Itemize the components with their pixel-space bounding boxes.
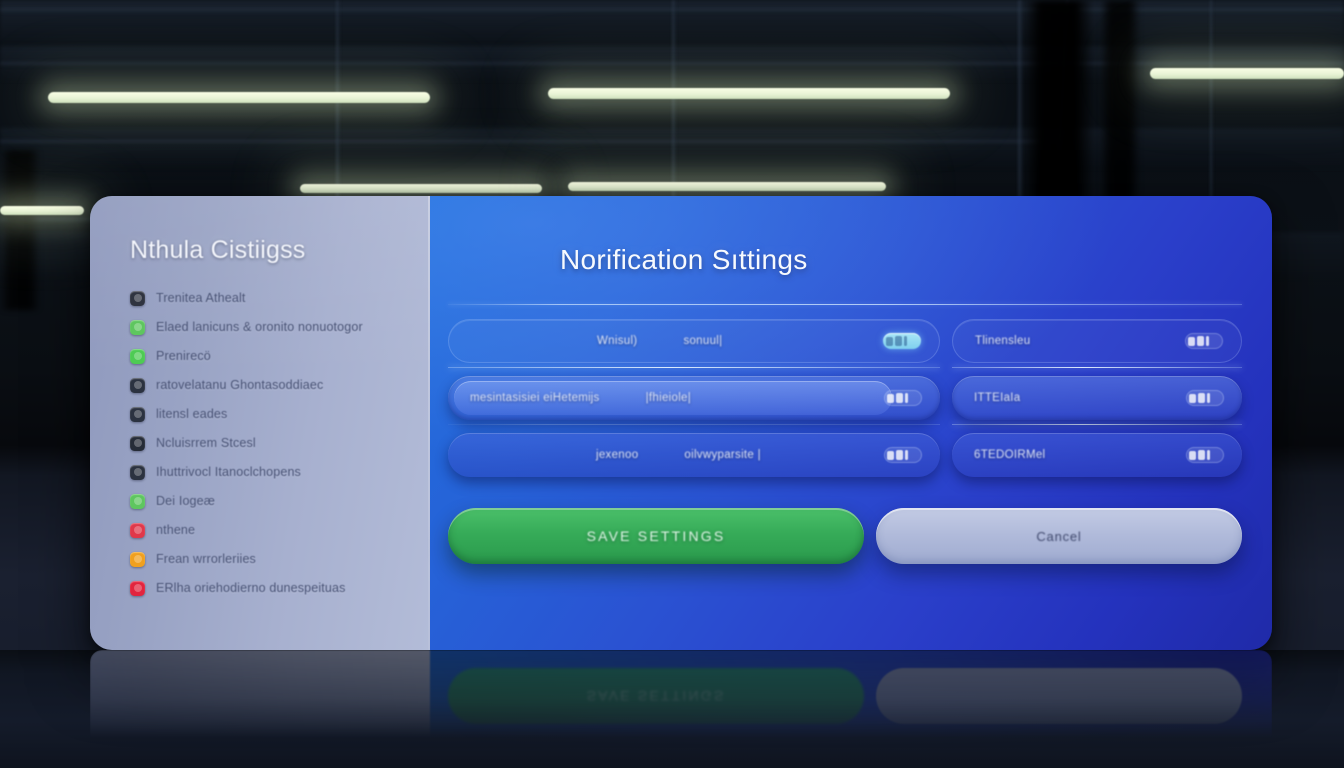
sidebar-item-3[interactable]: ratovelatanu Ghontasoddiaec xyxy=(130,376,430,394)
sidebar-nav: Trenitea AthealtElaed lanicuns & oronito… xyxy=(90,289,430,597)
sidebar-item-icon xyxy=(130,407,145,422)
setting-row-left-1[interactable]: mesintasisiei eiHetemĳs|fhieiole| xyxy=(448,376,940,420)
toggle-segment xyxy=(1207,450,1210,460)
sidebar-item-icon xyxy=(130,320,145,335)
ceiling-light xyxy=(568,182,886,191)
setting-row-value: oilvwyparsite | xyxy=(684,449,761,461)
setting-row-toggle[interactable] xyxy=(1186,447,1224,463)
sidebar-item-icon xyxy=(130,378,145,393)
setting-row-value: |fhieiole| xyxy=(646,392,691,404)
dark-column xyxy=(0,150,40,310)
ceiling-light xyxy=(1150,68,1344,79)
reflection-main: SAVE SETTINGS xyxy=(430,650,1272,738)
sidebar-item-label: Dei Iogeæ xyxy=(156,494,215,508)
sidebar-item-6[interactable]: Ihuttrivocl Itanoclchopens xyxy=(130,463,430,481)
setting-row-label: ITTEIaIa xyxy=(974,392,1021,404)
sidebar-item-label: Trenitea Athealt xyxy=(156,291,246,305)
sidebar-item-icon xyxy=(130,349,145,364)
setting-row-left-2[interactable]: jexenoooilvwyparsite | xyxy=(448,433,940,477)
toggle-segment xyxy=(895,336,902,346)
reflection-cancel-button xyxy=(876,668,1242,724)
sidebar-item-2[interactable]: Prenirecö xyxy=(130,347,430,365)
setting-row-label: 6TEDOIRMel xyxy=(974,449,1045,461)
toggle-segment xyxy=(896,450,903,460)
sidebar-item-icon xyxy=(130,291,145,306)
sidebar-item-icon xyxy=(130,465,145,480)
card-reflection: SAVE SETTINGS xyxy=(90,650,1272,738)
setting-row-label: mesintasisiei eiHetemĳs xyxy=(470,392,600,404)
sidebar-item-label: Frean wrrorleriies xyxy=(156,552,256,566)
toggle-segment xyxy=(905,393,908,403)
setting-row-label: jexenoo xyxy=(596,449,638,461)
sidebar-item-label: ratovelatanu Ghontasoddiaec xyxy=(156,378,323,392)
setting-row-toggle[interactable] xyxy=(1186,390,1224,406)
toggle-segment xyxy=(1197,336,1204,346)
reflection-save-button: SAVE SETTINGS xyxy=(448,668,864,724)
setting-row-right-2[interactable]: 6TEDOIRMel xyxy=(952,433,1242,477)
sidebar-item-4[interactable]: litensl eades xyxy=(130,405,430,423)
sidebar: Nthula Cistiigss Trenitea AthealtElaed l… xyxy=(90,196,430,650)
setting-row-left-0[interactable]: Wnisul)sonuul| xyxy=(448,319,940,363)
toggle-segment xyxy=(1188,337,1195,346)
sidebar-item-label: ERlha oriehodierno dunespeituas xyxy=(156,581,346,595)
sidebar-item-icon xyxy=(130,436,145,451)
toggle-segment xyxy=(1207,393,1210,403)
setting-row-right-1[interactable]: ITTEIaIa xyxy=(952,376,1242,420)
sidebar-item-icon xyxy=(130,581,145,596)
reflection-sidebar xyxy=(90,650,430,738)
toggle-segment xyxy=(1189,394,1196,403)
toggle-segment xyxy=(1189,451,1196,460)
ceiling-beam xyxy=(0,140,1040,144)
setting-row-toggle[interactable] xyxy=(883,333,921,349)
toggle-segment xyxy=(1206,336,1209,346)
sidebar-item-label: Prenirecö xyxy=(156,349,211,363)
page-title: Norification Sıttings xyxy=(560,244,1242,276)
sidebar-title: Nthula Cistiigss xyxy=(130,236,430,265)
ceiling-light xyxy=(0,206,84,215)
settings-column-right: TlinensleuITTEIaIa6TEDOIRMel xyxy=(952,319,1242,490)
sidebar-item-label: Elaed lanicuns & oronito nonuotogor xyxy=(156,320,363,334)
sidebar-item-8[interactable]: nthene xyxy=(130,521,430,539)
sidebar-item-icon xyxy=(130,494,145,509)
sidebar-item-label: Ncluisrrem Stcesl xyxy=(156,436,256,450)
row-gap xyxy=(448,481,940,490)
setting-row-toggle[interactable] xyxy=(884,447,922,463)
settings-column-left: Wnisul)sonuul|mesintasisiei eiHetemĳs|fh… xyxy=(448,319,940,490)
sidebar-item-9[interactable]: Frean wrrorleriies xyxy=(130,550,430,568)
sidebar-item-label: litensl eades xyxy=(156,407,227,421)
setting-row-toggle[interactable] xyxy=(1185,333,1223,349)
sidebar-item-0[interactable]: Trenitea Athealt xyxy=(130,289,430,307)
ceiling-light xyxy=(300,184,542,193)
settings-grid: Wnisul)sonuul|mesintasisiei eiHetemĳs|fh… xyxy=(448,319,1242,490)
toggle-segment xyxy=(896,393,903,403)
row-underline xyxy=(448,424,940,425)
row-underline xyxy=(952,424,1242,425)
save-settings-button[interactable]: SAVE SETTINGS xyxy=(448,508,864,564)
setting-row-toggle[interactable] xyxy=(884,390,922,406)
sidebar-item-1[interactable]: Elaed lanicuns & oronito nonuotogor xyxy=(130,318,430,336)
sidebar-item-5[interactable]: Ncluisrrem Stcesl xyxy=(130,434,430,452)
toggle-segment xyxy=(904,336,907,346)
settings-card: Nthula Cistiigss Trenitea AthealtElaed l… xyxy=(90,196,1272,650)
sidebar-item-7[interactable]: Dei Iogeæ xyxy=(130,492,430,510)
row-gap xyxy=(952,481,1242,490)
toggle-segment xyxy=(887,394,894,403)
sidebar-item-label: nthene xyxy=(156,523,195,537)
setting-row-label: Tlinensleu xyxy=(975,335,1030,347)
row-underline xyxy=(448,367,940,368)
title-divider xyxy=(448,304,1242,305)
toggle-segment xyxy=(886,337,893,346)
toggle-segment xyxy=(905,450,908,460)
setting-row-right-0[interactable]: Tlinensleu xyxy=(952,319,1242,363)
cancel-label: Cancel xyxy=(1036,529,1081,544)
toggle-segment xyxy=(1198,393,1205,403)
cancel-button[interactable]: Cancel xyxy=(876,508,1242,564)
main-panel: Norification Sıttings Wnisul)sonuul|mesi… xyxy=(430,196,1272,650)
toggle-segment xyxy=(1198,450,1205,460)
toggle-segment xyxy=(887,451,894,460)
setting-row-label: Wnisul) xyxy=(597,335,637,347)
ceiling-light xyxy=(548,88,950,99)
sidebar-item-10[interactable]: ERlha oriehodierno dunespeituas xyxy=(130,579,430,597)
ceiling-light xyxy=(48,92,430,103)
sidebar-item-icon xyxy=(130,523,145,538)
row-underline xyxy=(952,367,1242,368)
sidebar-item-label: Ihuttrivocl Itanoclchopens xyxy=(156,465,301,479)
setting-row-value: sonuul| xyxy=(683,335,722,347)
save-settings-label: SAVE SETTINGS xyxy=(587,528,726,544)
action-bar: SAVE SETTINGS Cancel xyxy=(448,508,1242,564)
sidebar-item-icon xyxy=(130,552,145,567)
